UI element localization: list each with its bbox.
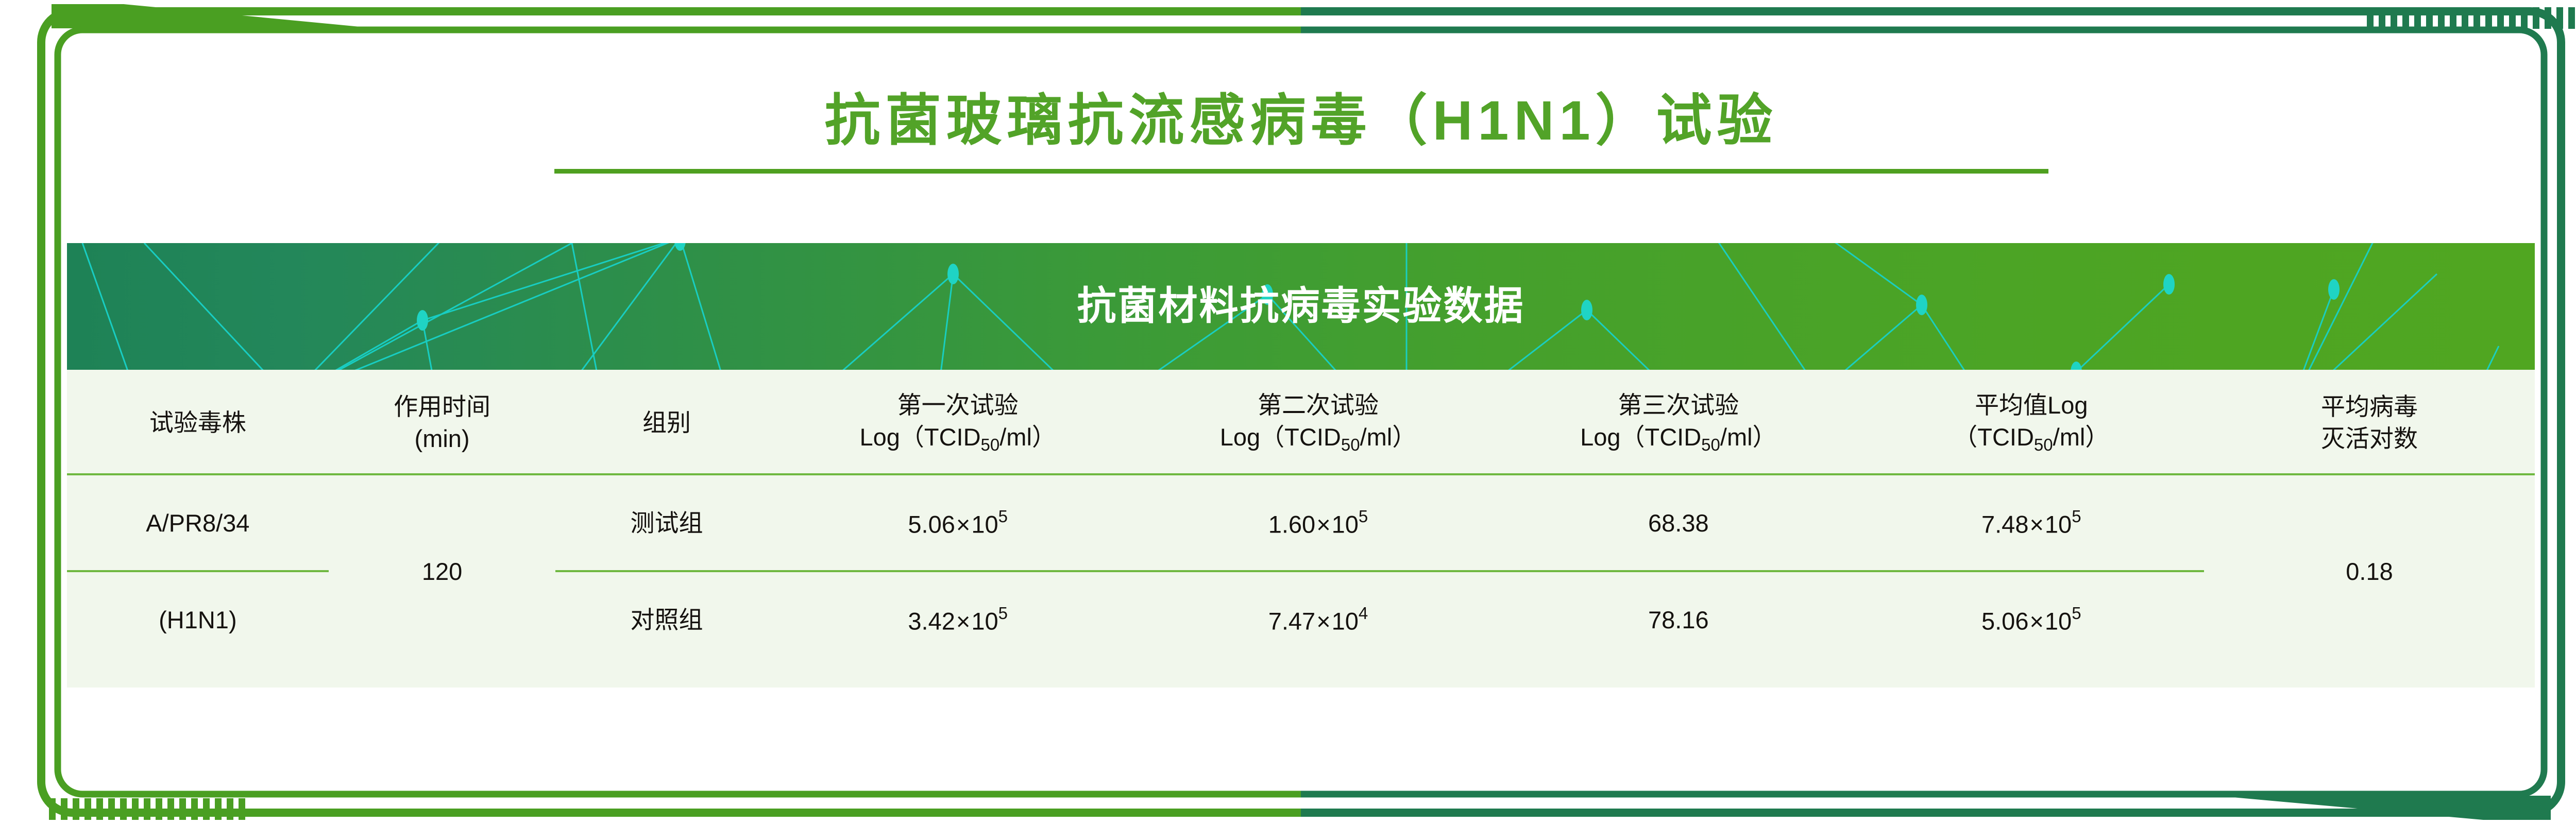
header-line1: 第三次试验 <box>1500 389 1856 421</box>
header-line1: 试验毒株 <box>69 407 327 439</box>
header-line2: Log（TCID50/ml） <box>1140 421 1496 456</box>
col-header-mean: 平均值Log （TCID50/ml） <box>1858 370 2204 474</box>
value-mantissa: 7.47 <box>1268 608 1315 635</box>
header-line1: 第二次试验 <box>1140 389 1496 421</box>
col-header-test1: 第一次试验 Log（TCID50/ml） <box>778 370 1138 474</box>
value-exponent: 5 <box>2072 507 2081 526</box>
header-line2: (min) <box>331 423 554 455</box>
value-base: 10 <box>971 511 998 538</box>
value-exponent: 5 <box>998 507 1008 526</box>
header-line2: Log（TCID50/ml） <box>1500 421 1856 456</box>
cell-group: 对照组 <box>555 571 777 667</box>
table-bottom-padding <box>67 667 2535 688</box>
multiply-sign: × <box>2028 511 2044 538</box>
multiply-sign: × <box>955 608 971 635</box>
col-header-group: 组别 <box>555 370 777 474</box>
cell-test2: 1.60×105 <box>1138 474 1498 571</box>
value-mantissa: 5.06 <box>908 511 955 538</box>
value-base: 10 <box>2045 511 2072 538</box>
title-block: 抗菌玻璃抗流感病毒（H1N1）试验 <box>0 90 2576 174</box>
cell-mean: 7.48×105 <box>1858 474 2204 571</box>
col-header-duration: 作用时间 (min) <box>329 370 556 474</box>
cell-avg-inactivation-log: 0.18 <box>2204 474 2535 667</box>
data-table-card: 抗菌材料抗病毒实验数据 试验毒株 作用时间 (min) <box>67 243 2535 688</box>
cell-test1: 3.42×105 <box>778 571 1138 667</box>
value-base: 10 <box>1332 511 1359 538</box>
header-line1: 作用时间 <box>331 391 554 423</box>
table-head: 试验毒株 作用时间 (min) 组别 第一次试验 Log（TCID50/ml） <box>67 370 2535 474</box>
title-underline <box>554 169 2048 174</box>
multiply-sign: × <box>1315 511 1331 538</box>
table-row: A/PR8/34 120 测试组 5.06×105 1.60×105 68.38… <box>67 474 2535 571</box>
header-line2: Log（TCID50/ml） <box>780 421 1136 456</box>
cell-test3: 78.16 <box>1498 571 1858 667</box>
cell-duration: 120 <box>329 474 556 667</box>
cell-strain-line2: (H1N1) <box>67 571 329 667</box>
multiply-sign: × <box>2028 608 2044 635</box>
multiply-sign: × <box>955 511 971 538</box>
col-header-test3: 第三次试验 Log（TCID50/ml） <box>1498 370 1858 474</box>
value-exponent: 5 <box>1359 507 1368 526</box>
value-exponent: 4 <box>1359 604 1368 623</box>
multiply-sign: × <box>1315 608 1331 635</box>
header-line1: 平均值Log <box>1860 389 2202 421</box>
col-header-inactivation: 平均病毒 灭活对数 <box>2204 370 2535 474</box>
value-mantissa: 1.60 <box>1268 511 1315 538</box>
header-line2: （TCID50/ml） <box>1860 421 2202 456</box>
header-line2: 灭活对数 <box>2206 423 2533 455</box>
col-header-test2: 第二次试验 Log（TCID50/ml） <box>1138 370 1498 474</box>
cell-test3: 68.38 <box>1498 474 1858 571</box>
header-row: 试验毒株 作用时间 (min) 组别 第一次试验 Log（TCID50/ml） <box>67 370 2535 474</box>
col-header-strain: 试验毒株 <box>67 370 329 474</box>
table-header-band: 抗菌材料抗病毒实验数据 <box>67 243 2535 370</box>
cell-mean: 5.06×105 <box>1858 571 2204 667</box>
header-line1: 第一次试验 <box>780 389 1136 421</box>
header-line1: 组别 <box>557 407 775 439</box>
table-body: 试验毒株 作用时间 (min) 组别 第一次试验 Log（TCID50/ml） <box>67 370 2535 688</box>
table-band-title: 抗菌材料抗病毒实验数据 <box>67 243 2535 370</box>
value-base: 10 <box>2045 608 2072 635</box>
value-mantissa: 3.42 <box>908 608 955 635</box>
header-line1: 平均病毒 <box>2206 391 2533 423</box>
value-mantissa: 5.06 <box>1981 608 2028 635</box>
experiment-table: 试验毒株 作用时间 (min) 组别 第一次试验 Log（TCID50/ml） <box>67 370 2535 667</box>
value-exponent: 5 <box>2072 604 2081 623</box>
value-mantissa: 7.48 <box>1981 511 2028 538</box>
cell-test1: 5.06×105 <box>778 474 1138 571</box>
cell-test2: 7.47×104 <box>1138 571 1498 667</box>
page-title: 抗菌玻璃抗流感病毒（H1N1）试验 <box>0 90 2576 151</box>
value-exponent: 5 <box>998 604 1008 623</box>
table-body-rows: A/PR8/34 120 测试组 5.06×105 1.60×105 68.38… <box>67 474 2535 667</box>
cell-strain-line1: A/PR8/34 <box>67 474 329 571</box>
value-base: 10 <box>971 608 998 635</box>
value-base: 10 <box>1332 608 1359 635</box>
cell-group: 测试组 <box>555 474 777 571</box>
